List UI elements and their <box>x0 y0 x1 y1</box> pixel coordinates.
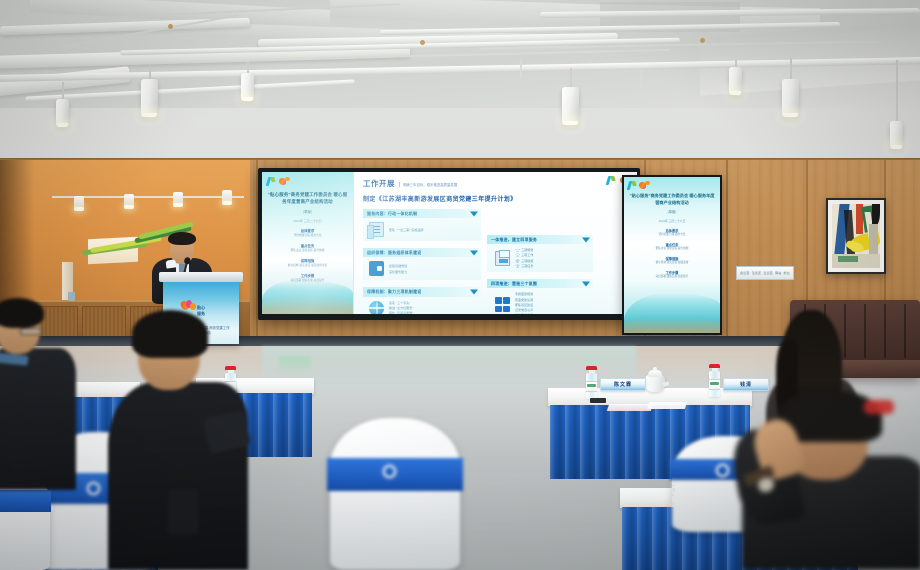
card-heading: 四项推进：营造三个氛围 <box>487 279 593 288</box>
screen-subtitle: 制定《江苏湖丰高新游发展区商贸党建三年提升计划》 <box>363 194 630 203</box>
document-icon <box>369 222 384 237</box>
teapot <box>645 368 665 392</box>
water-bottle <box>586 366 597 399</box>
right-vertical-display[interactable]: “贴心服务”商务党建工作委员会 暖心服务年度营商产业结构活动 （草案） 2024… <box>622 175 722 335</box>
poster-logos <box>267 177 348 186</box>
main-led-wall[interactable]: “贴心服务”商务党建工作委员会 暖心服务年度营商产业结构活动 （草案） 2024… <box>258 168 640 320</box>
screen-card: 一体推进，建立四项服务 “二” 三项规则 “三” 三项工作 “四” 三项措施 “… <box>487 235 593 272</box>
vscreen-section: 保障措施 健全机制·落实责任·加强监督 <box>628 256 716 265</box>
printer-icon <box>495 251 510 266</box>
screen-card: 组织保障：服务组织体系建设 加强基础党建 深化服务能力 <box>363 248 481 280</box>
poster-section: 总体要求 坚持党建引领·服务大局 <box>267 228 348 238</box>
poster-section: 重点任务 聚焦主业·强化责任·提升效能 <box>267 243 348 253</box>
screen-main-panel: 工作开展 明确三年目标，稳步推进高质量发展 制定《江苏湖丰高新游发展区商贸党建三… <box>354 172 637 314</box>
framed-abstract-painting <box>826 198 886 274</box>
pendant-light <box>56 99 69 127</box>
track-light <box>222 190 232 203</box>
globe-icon <box>369 301 384 314</box>
screen-title-note: 明确三年目标，稳步推进高质量发展 <box>399 182 457 187</box>
nameplate-left: 陈文霖 <box>600 378 646 391</box>
vscreen-section: 总体要求 坚持党建引领·服务大局 <box>628 228 716 237</box>
card-heading: 一体推进，建立四项服务 <box>487 235 593 244</box>
pendant-light <box>241 73 254 101</box>
vscreen-title: “贴心服务”商务党建工作委员会 暖心服务年度营商产业结构活动 <box>628 193 716 206</box>
track-light <box>74 196 84 209</box>
attendee-left-rear <box>0 300 76 490</box>
logo-y-icon <box>607 176 615 185</box>
pendant-light <box>562 87 579 125</box>
vscreen-logos <box>628 181 716 189</box>
remote-control[interactable] <box>590 398 606 403</box>
poster-dateline: 2024年 三月二十六日 <box>267 219 348 223</box>
vscreen-dateline: 2024年 三月二十六日 <box>628 219 716 223</box>
screen-poster-panel: “贴心服务”商务党建工作委员会 暖心服务年度营商产业结构活动 （草案） 2024… <box>262 172 354 314</box>
vscreen-section: 重点任务 聚焦主业·强化责任·提升效能 <box>628 242 716 251</box>
poster-subtitle: （草案） <box>267 209 348 214</box>
card-heading: 服务内容：行动一体化机制 <box>363 209 481 218</box>
screen-card: 服务内容：行动一体化机制 聚焦 “一念三事” 实施品牌 <box>363 209 481 241</box>
water-bottle <box>709 364 720 397</box>
pendant-light <box>729 67 742 95</box>
logo-p-icon <box>279 177 290 186</box>
poster-title: “贴心服务”商务党建工作委员会 暖心服务年度营商产业结构活动 <box>267 192 348 206</box>
pendant-light <box>782 79 799 117</box>
screen-card: 四项推进：营造三个氛围 专题团建规划 营造党建氛围 聚焦基层建设 记录党员心声 … <box>487 279 593 314</box>
attendee-left-front <box>108 310 248 570</box>
attendee-right-front <box>742 398 920 570</box>
wallet-icon <box>369 261 384 276</box>
card-heading: 保障机制：聚力三项机制建设 <box>363 287 481 296</box>
room-directory-sign: 会议室 洽谈区 洽谈室 驿站 前台 <box>736 266 794 280</box>
pendant-light <box>890 121 903 149</box>
papers <box>647 402 688 409</box>
logo-y-icon <box>628 181 636 190</box>
vscreen-subtitle: （草案） <box>628 209 716 214</box>
logo-p-icon <box>639 181 650 190</box>
vscreen-section: 工作步骤 动员部署·组织实施·总结提升 <box>628 270 716 279</box>
logo-y-icon <box>267 177 275 186</box>
card-heading: 组织保障：服务组织体系建设 <box>363 248 481 257</box>
poster-section: 保障措施 健全机制·落实责任·加强监督考核 <box>267 258 348 268</box>
track-light <box>124 194 134 207</box>
chair-center <box>330 418 460 570</box>
conference-room-photo: “贴心服务”商务党建工作委员会 暖心服务年度营商产业结构活动 （草案） 2024… <box>0 0 920 570</box>
pendant-light <box>141 79 158 117</box>
track-light <box>173 192 183 205</box>
screen-card: 保障机制：聚力三项机制建设 落实 “三个带头” 推进 “全方位服务” 强化 “引… <box>363 287 481 314</box>
grid-icon <box>495 297 510 312</box>
screen-title: 工作开展 <box>363 178 395 189</box>
